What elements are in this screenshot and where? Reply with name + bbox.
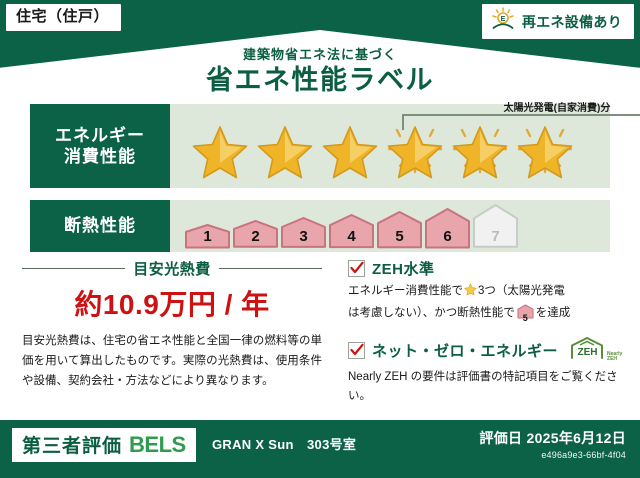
energy-label-root: 住宅（住戸） E 再エネ設備あり 建築物省エネ法に基づく 省エネ性能ラベル (0, 0, 640, 478)
evaluation-date: 評価日 2025年6月12日 (479, 428, 626, 448)
utility-cost-section: 目安光熱費 約10.9万円 / 年 目安光熱費は、住宅の省エネ性能と全国一律の燃… (22, 258, 322, 391)
utility-cost-heading-text: 目安光熱費 (133, 258, 211, 279)
svg-text:E: E (501, 16, 506, 23)
star-solar-icon (448, 119, 512, 179)
svg-text:ZEH: ZEH (578, 347, 598, 358)
mini-house-badge: 5 (517, 304, 534, 327)
insulation-level-value: 7 (472, 228, 519, 245)
zeh-note-part2: は考慮しない）、かつ断熱性能で (348, 307, 515, 319)
zeh-note-part3: を達成 (536, 307, 571, 319)
insulation-level-inactive: 7 (472, 203, 519, 248)
mini-star-icon (464, 287, 477, 299)
solar-sun-icon: E (490, 7, 516, 36)
energy-star-rating (170, 119, 577, 179)
utility-cost-heading: 目安光熱費 (22, 258, 322, 279)
zeh-level-note: エネルギー消費性能で3つ（太陽光発電 は考慮しない）、かつ断熱性能で5を達成 (348, 282, 620, 327)
net-zero-checkbox[interactable] (348, 342, 365, 359)
renewable-equipment-badge: E 再エネ設備あり (482, 4, 634, 39)
insulation-level-value: 4 (328, 228, 375, 245)
insulation-levels-area: 1 2 3 4 5 6 7 (170, 200, 610, 252)
net-zero-heading: ネット・ゼロ・エネルギー ZEH Nearly ZEH (348, 336, 620, 365)
net-zero-note: Nearly ZEH の要件は評価書の特記項目をご覧ください。 (348, 368, 620, 408)
star-solar-icon (513, 119, 577, 179)
rule-left (22, 268, 125, 269)
insulation-level-active: 5 (376, 210, 423, 249)
insulation-level-value: 2 (232, 228, 279, 245)
property-name: GRAN X Sun 303号室 (212, 434, 356, 453)
zeh-note-part1: エネルギー消費性能で (348, 285, 463, 297)
energy-stars-area: 太陽光発電(自家消費)分 (170, 104, 610, 188)
insulation-level-scale: 1 2 3 4 5 6 7 (170, 203, 519, 248)
insulation-level-active: 2 (232, 219, 279, 248)
evaluation-id: e496a9e3-66bf-4f04 (479, 450, 626, 460)
star-icon (253, 119, 317, 179)
insulation-level-active: 3 (280, 216, 327, 248)
bels-logo-en: BELS (129, 432, 186, 458)
mini-house-badge-value: 5 (517, 311, 534, 326)
solar-bracket-caption: 太陽光発電(自家消費)分 (402, 99, 640, 114)
zeh-logo-mark: ZEH (569, 336, 605, 365)
insulation-level-value: 6 (424, 228, 471, 245)
zeh-note-star-count: 3つ（太陽光発電 (478, 285, 565, 297)
net-zero-title: ネット・ゼロ・エネルギー (372, 340, 558, 361)
insulation-level-active: 1 (184, 223, 231, 249)
renewable-equipment-label: 再エネ設備あり (522, 12, 622, 32)
bels-logo-jp: 第三者評価 (22, 431, 122, 458)
energy-performance-label: エネルギー 消費性能 (30, 104, 170, 188)
energy-performance-panel: エネルギー 消費性能 太陽光発電(自家消費)分 (30, 104, 610, 188)
utility-cost-note: 目安光熱費は、住宅の省エネ性能と全国一律の燃料等の単価を用いて算出したものです。… (22, 331, 322, 391)
zeh-level-checkbox[interactable] (348, 260, 365, 277)
insulation-level-value: 3 (280, 228, 327, 245)
evaluation-info: 評価日 2025年6月12日 e496a9e3-66bf-4f04 (479, 428, 626, 460)
insulation-performance-label: 断熱性能 (30, 200, 170, 252)
star-solar-icon (383, 119, 447, 179)
zeh-level-heading: ZEH水準 (348, 258, 620, 279)
star-icon (188, 119, 252, 179)
rule-right (219, 268, 322, 269)
building-type-badge: 住宅（住戸） (6, 4, 121, 31)
label-footer: 第三者評価 BELS GRAN X Sun 303号室 評価日 2025年6月1… (0, 420, 640, 478)
zeh-section: ZEH水準 エネルギー消費性能で3つ（太陽光発電 は考慮しない）、かつ断熱性能で… (348, 258, 620, 407)
zeh-logo-sublabel: Nearly ZEH (607, 352, 622, 365)
star-icon (318, 119, 382, 179)
zeh-logo-sub-line2: ZEH (607, 356, 617, 362)
utility-cost-value: 約10.9万円 / 年 (22, 283, 322, 323)
bels-logo: 第三者評価 BELS (12, 428, 196, 462)
zeh-level-title: ZEH水準 (372, 258, 435, 279)
insulation-level-active: 4 (328, 213, 375, 249)
insulation-level-value: 1 (184, 228, 231, 245)
insulation-level-value: 5 (376, 228, 423, 245)
insulation-performance-panel: 断熱性能 1 2 3 4 5 6 7 (30, 200, 610, 252)
insulation-level-active: 6 (424, 207, 471, 249)
label-title: 省エネ性能ラベル (0, 58, 640, 97)
zeh-logo: ZEH Nearly ZEH (569, 336, 622, 365)
